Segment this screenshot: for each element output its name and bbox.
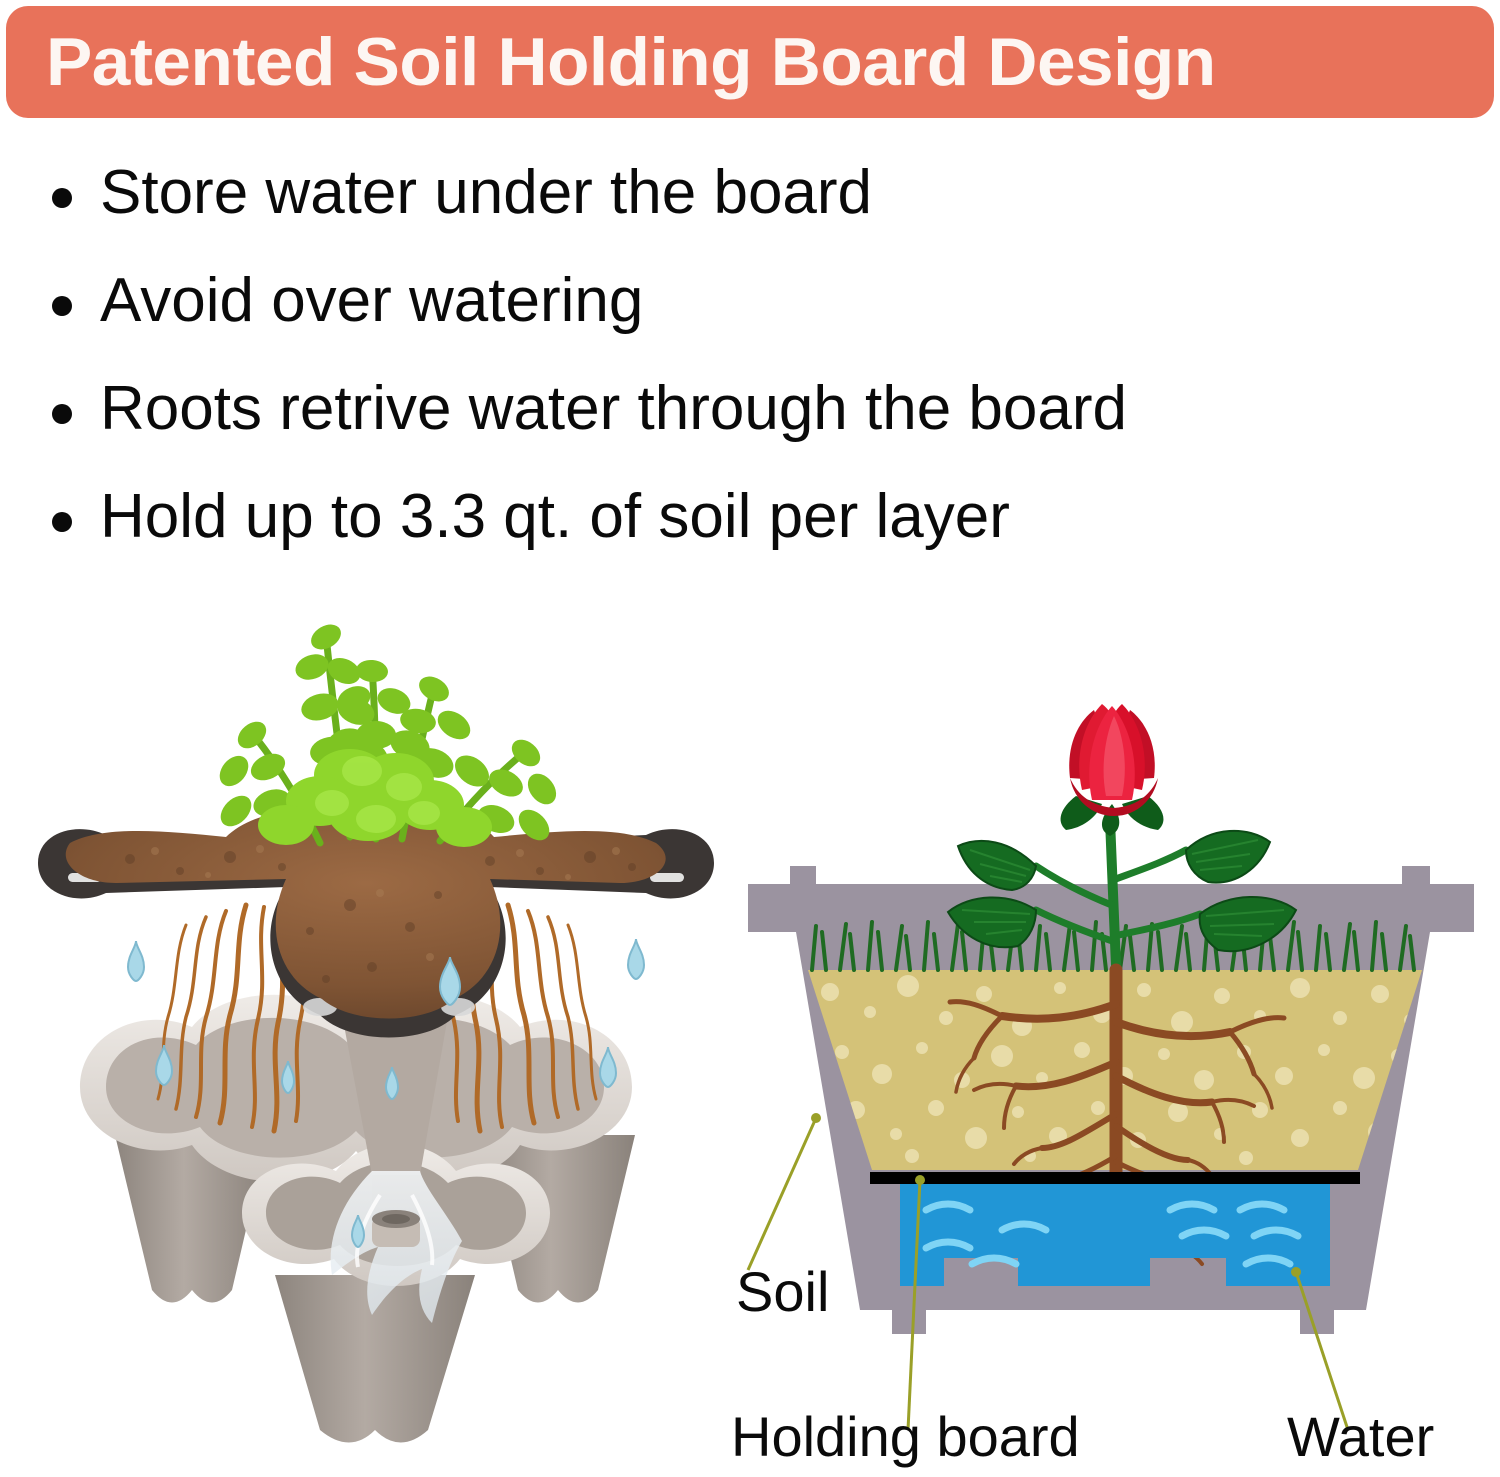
list-item: Store water under the board xyxy=(52,160,1452,268)
figures-area xyxy=(0,575,1500,1477)
bullet-text: Avoid over watering xyxy=(100,268,643,333)
bullet-text: Roots retrive water through the board xyxy=(100,376,1127,441)
bullet-text: Store water under the board xyxy=(100,160,872,225)
callout-label-holding-board: Holding board xyxy=(731,1409,1080,1465)
leader-line-soil xyxy=(748,1118,816,1270)
bullet-dot-icon xyxy=(52,188,72,208)
holding-board-line xyxy=(870,1172,1360,1184)
list-item: Avoid over watering xyxy=(52,268,1452,376)
rose-bloom xyxy=(1069,704,1158,816)
infographic-page: Patented Soil Holding Board Design Store… xyxy=(0,0,1500,1477)
bullet-dot-icon xyxy=(52,404,72,424)
page-title: Patented Soil Holding Board Design xyxy=(46,28,1216,96)
callout-label-water: Water xyxy=(1287,1409,1434,1465)
drain-nozzle xyxy=(372,1210,420,1247)
plant-foliage xyxy=(214,619,562,847)
list-item: Roots retrive water through the board xyxy=(52,376,1452,484)
stacking-planter-photo xyxy=(20,575,760,1455)
feature-bullet-list: Store water under the board Avoid over w… xyxy=(52,160,1452,592)
header-banner: Patented Soil Holding Board Design xyxy=(6,6,1494,118)
bullet-dot-icon xyxy=(52,512,72,532)
bullet-text: Hold up to 3.3 qt. of soil per layer xyxy=(100,484,1010,549)
soil-mound xyxy=(66,811,666,1019)
pot-cross-section-diagram xyxy=(730,670,1500,1452)
bullet-dot-icon xyxy=(52,296,72,316)
callout-label-soil: Soil xyxy=(736,1264,829,1320)
